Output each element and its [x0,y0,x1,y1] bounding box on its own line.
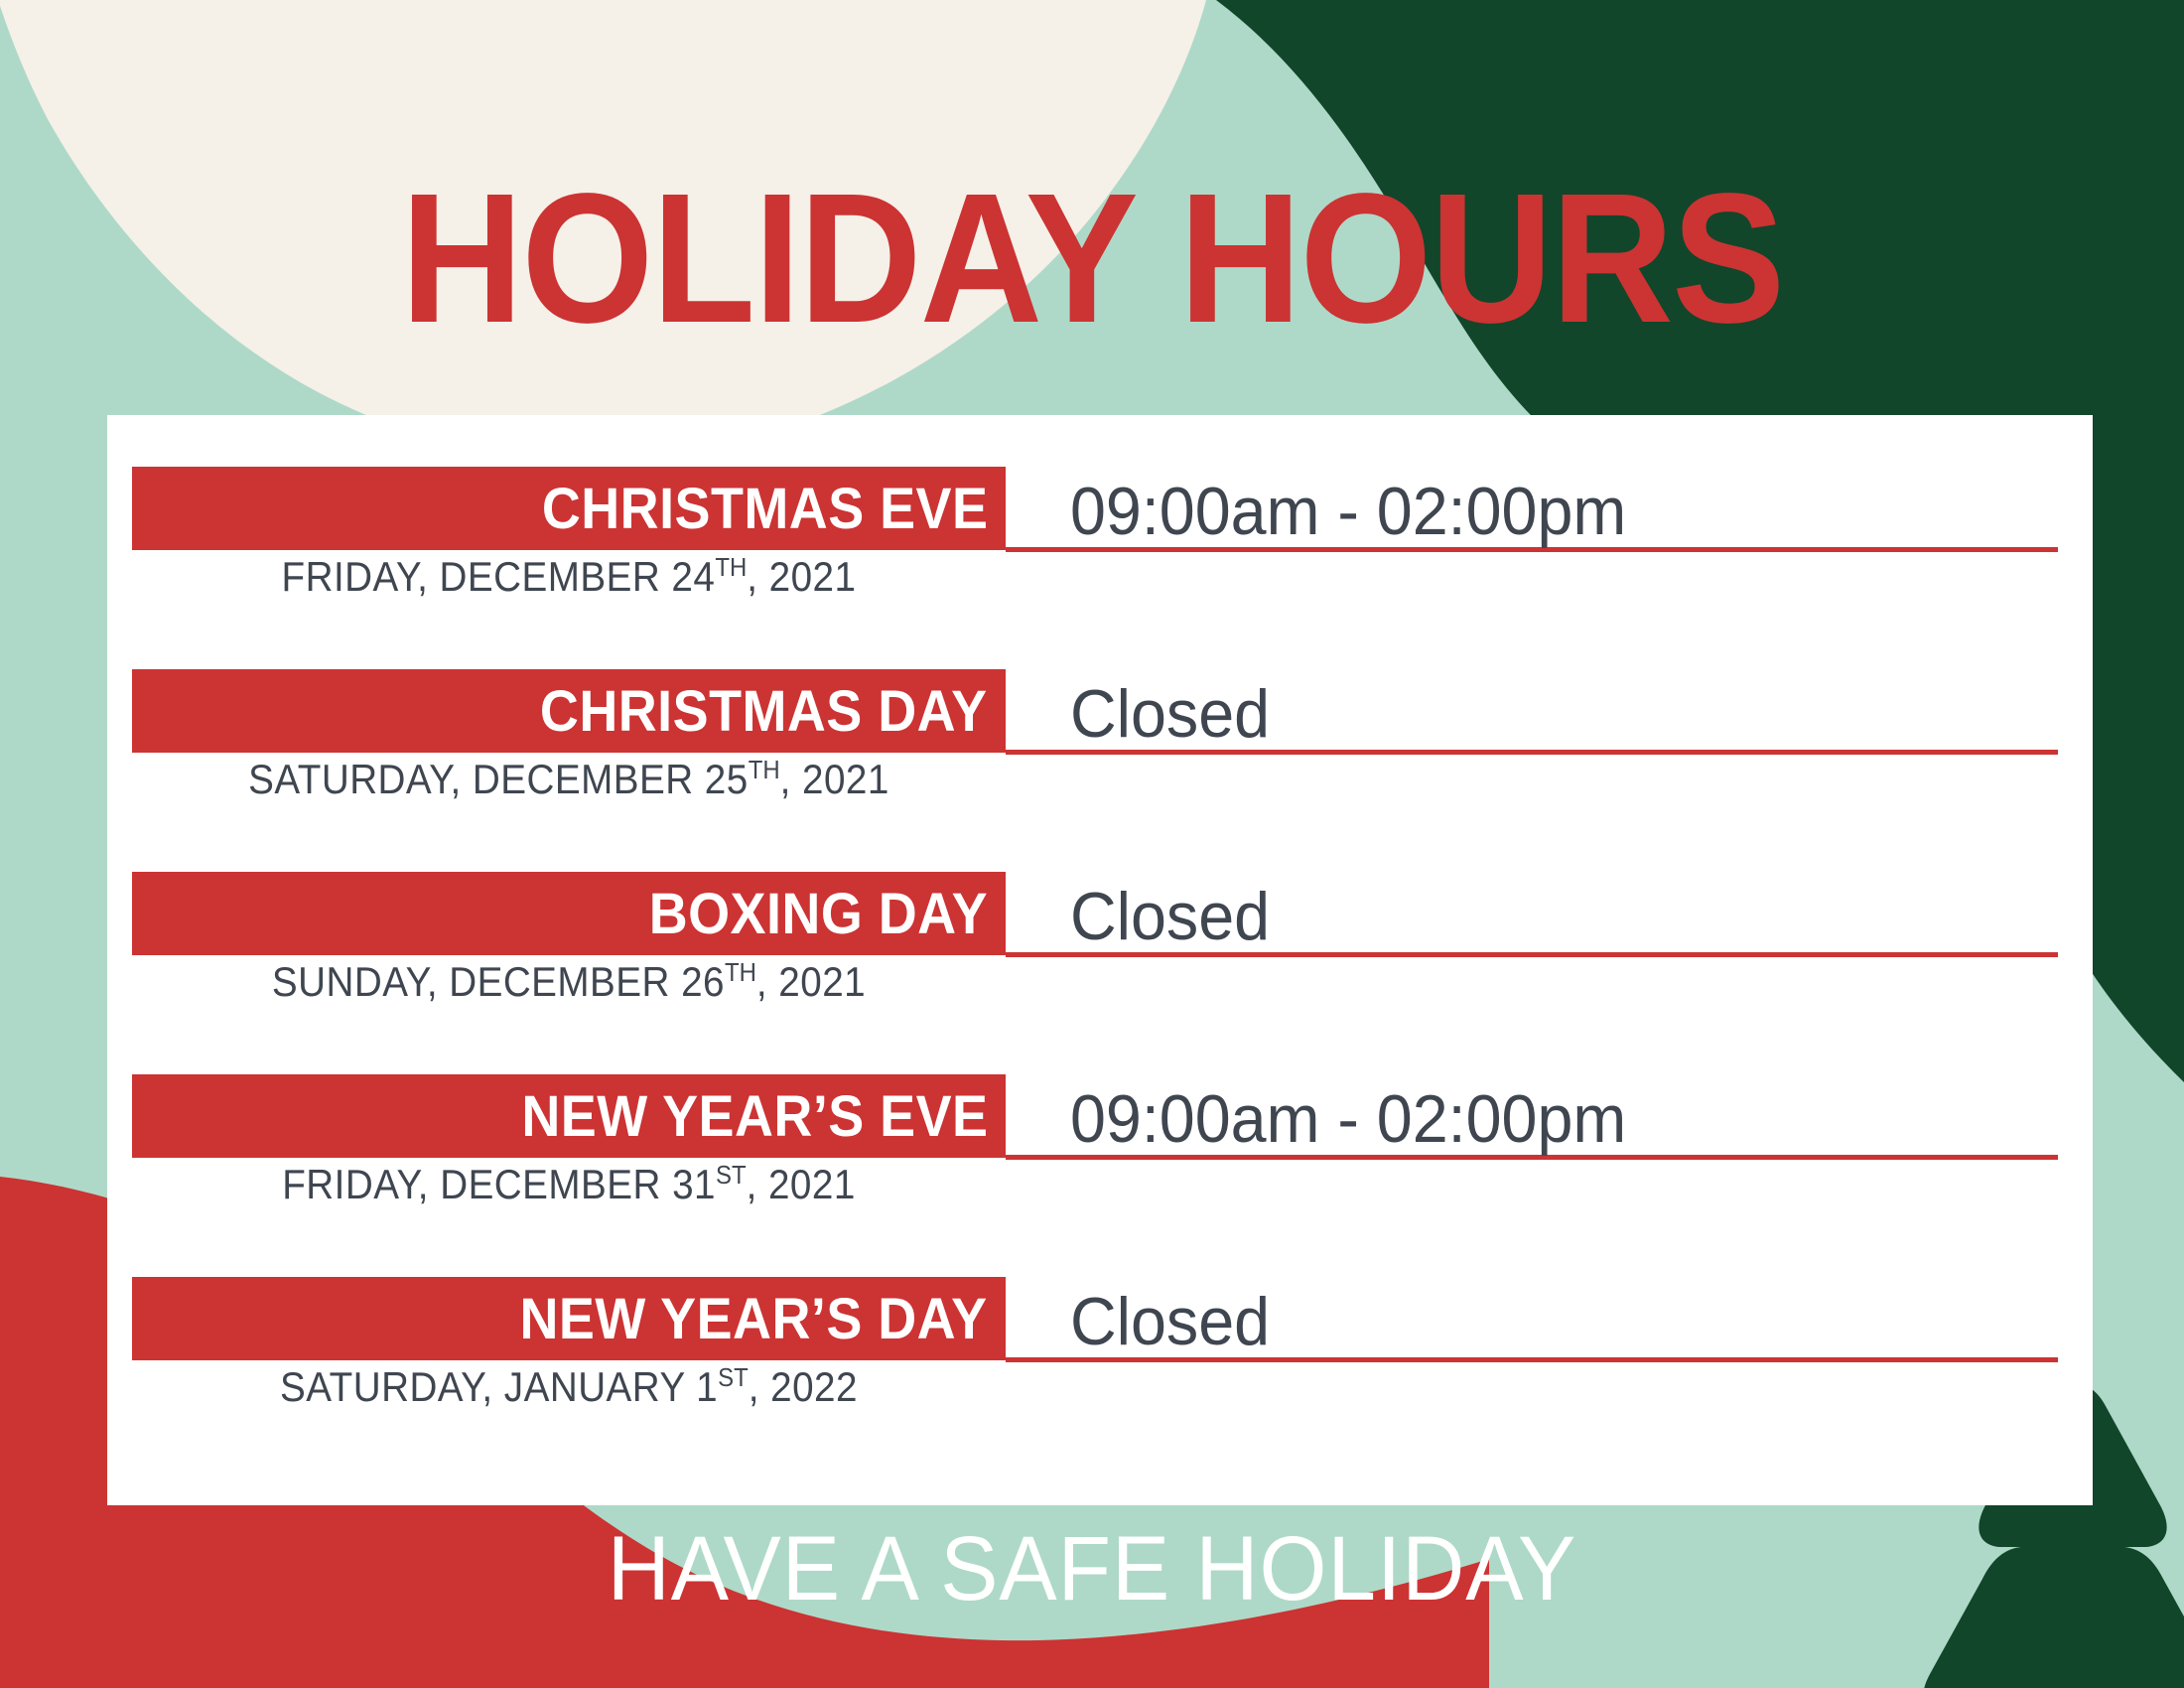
table-row: NEW YEAR’S DAY SATURDAY, JANUARY 1ST, 20… [107,1277,2093,1456]
holiday-name: BOXING DAY [649,881,988,947]
holiday-date: FRIDAY, DECEMBER 24TH, 2021 [167,552,971,601]
holiday-date-year: , 2022 [749,1363,858,1410]
holiday-hours-cell: Closed [1006,669,2058,755]
holiday-date-prefix: FRIDAY, DECEMBER 31 [282,1161,716,1207]
holiday-date: SATURDAY, JANUARY 1ST, 2022 [167,1362,971,1411]
table-row: CHRISTMAS DAY SATURDAY, DECEMBER 25TH, 2… [107,669,2093,848]
holiday-date-prefix: SATURDAY, DECEMBER 25 [248,756,749,802]
holiday-date-ordinal: ST [716,1160,747,1190]
holiday-date-year: , 2021 [780,756,889,802]
holiday-date-ordinal: TH [725,957,756,987]
holiday-hours-cell: 09:00am - 02:00pm [1006,1074,2058,1160]
holiday-name: NEW YEAR’S EVE [521,1083,988,1150]
holiday-hours-cell: Closed [1006,1277,2058,1362]
table-row: NEW YEAR’S EVE FRIDAY, DECEMBER 31ST, 20… [107,1074,2093,1253]
holiday-date-year: , 2021 [756,958,866,1005]
holiday-name-bar: NEW YEAR’S DAY [132,1277,1006,1360]
holiday-date-year: , 2021 [747,1161,856,1207]
holiday-date-ordinal: TH [749,755,780,784]
holiday-hours-cell: 09:00am - 02:00pm [1006,467,2058,552]
holiday-name-bar: BOXING DAY [132,872,1006,955]
holiday-hours: Closed [1070,1287,1270,1357]
holiday-name: CHRISTMAS EVE [541,476,988,542]
holiday-name: CHRISTMAS DAY [540,678,988,745]
holiday-date-ordinal: ST [718,1362,749,1392]
holiday-name-bar: CHRISTMAS DAY [132,669,1006,753]
page-title: HOLIDAY HOURS [87,167,2097,352]
table-row: BOXING DAY SUNDAY, DECEMBER 26TH, 2021 C… [107,872,2093,1051]
holiday-date-prefix: SUNDAY, DECEMBER 26 [272,958,725,1005]
holiday-hours: Closed [1070,882,1270,952]
holiday-hours-poster: HOLIDAY HOURS CHRISTMAS EVE FRIDAY, DECE… [0,0,2184,1688]
holiday-name-bar: NEW YEAR’S EVE [132,1074,1006,1158]
holiday-name-bar: CHRISTMAS EVE [132,467,1006,550]
holiday-date-ordinal: TH [715,552,747,582]
holiday-hours: 09:00am - 02:00pm [1070,477,1626,547]
holiday-date-prefix: FRIDAY, DECEMBER 24 [282,553,716,600]
holiday-name: NEW YEAR’S DAY [520,1286,988,1352]
table-row: CHRISTMAS EVE FRIDAY, DECEMBER 24TH, 202… [107,467,2093,645]
holiday-date-prefix: SATURDAY, JANUARY 1 [280,1363,718,1410]
schedule-card: CHRISTMAS EVE FRIDAY, DECEMBER 24TH, 202… [107,415,2093,1505]
footer-message: HAVE A SAFE HOLIDAY [55,1517,2129,1621]
holiday-date-year: , 2021 [747,553,856,600]
holiday-date: FRIDAY, DECEMBER 31ST, 2021 [167,1160,971,1208]
holiday-hours: Closed [1070,679,1270,750]
holiday-hours-cell: Closed [1006,872,2058,957]
holiday-date: SATURDAY, DECEMBER 25TH, 2021 [167,755,971,803]
holiday-date: SUNDAY, DECEMBER 26TH, 2021 [167,957,971,1006]
holiday-hours: 09:00am - 02:00pm [1070,1084,1626,1155]
